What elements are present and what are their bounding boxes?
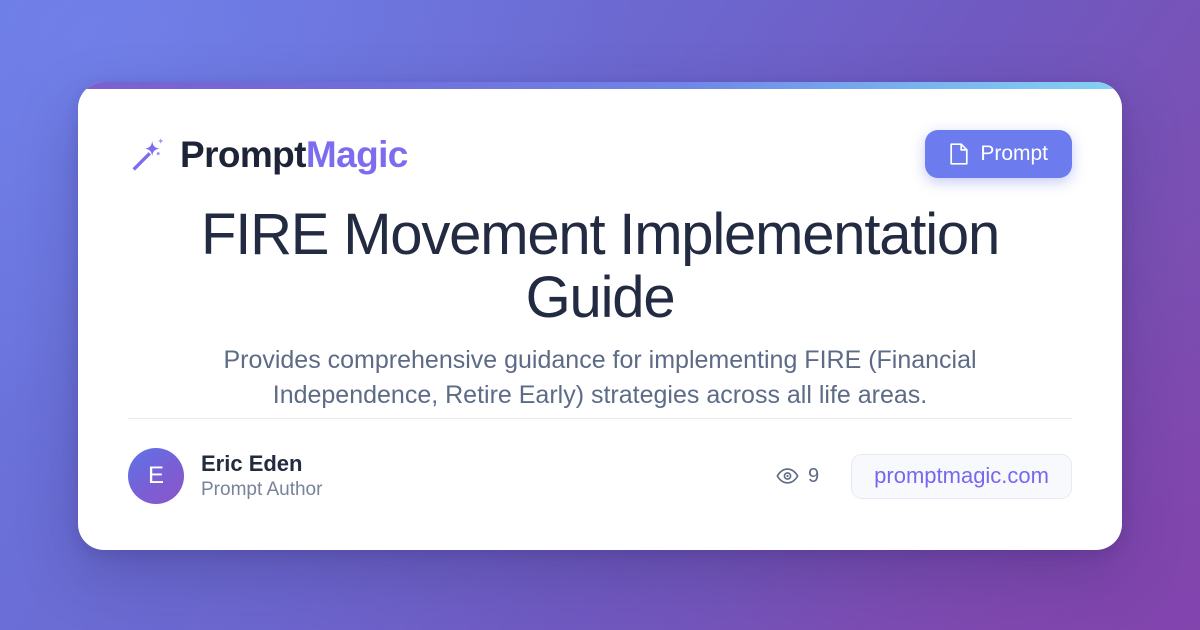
author-name: Eric Eden: [201, 451, 322, 476]
magic-wand-icon: [128, 135, 166, 173]
card-header: PromptMagic Prompt: [128, 126, 1072, 182]
eye-icon: [776, 468, 799, 484]
document-icon: [949, 143, 969, 165]
page-title: FIRE Movement Implementation Guide: [128, 204, 1072, 329]
brand-logo[interactable]: PromptMagic: [128, 135, 408, 173]
footer-right-group: 9 promptmagic.com: [776, 454, 1072, 499]
author-block[interactable]: E Eric Eden Prompt Author: [128, 448, 322, 504]
avatar: E: [128, 448, 184, 504]
domain-badge[interactable]: promptmagic.com: [851, 454, 1072, 499]
brand-name-accent: Magic: [306, 134, 408, 175]
brand-name-primary: Prompt: [180, 134, 306, 175]
prompt-type-badge[interactable]: Prompt: [925, 130, 1072, 178]
card-footer: E Eric Eden Prompt Author 9 promptmagic.…: [128, 447, 1072, 505]
brand-wordmark: PromptMagic: [180, 136, 408, 173]
author-meta: Eric Eden Prompt Author: [201, 451, 322, 500]
prompt-type-badge-label: Prompt: [980, 142, 1048, 166]
footer-divider: [128, 418, 1072, 419]
view-count: 9: [776, 465, 819, 488]
view-count-value: 9: [808, 465, 819, 488]
author-role: Prompt Author: [201, 479, 322, 501]
page-description: Provides comprehensive guidance for impl…: [128, 343, 1072, 411]
share-card: PromptMagic Prompt FIRE Movement Impleme…: [78, 82, 1122, 550]
